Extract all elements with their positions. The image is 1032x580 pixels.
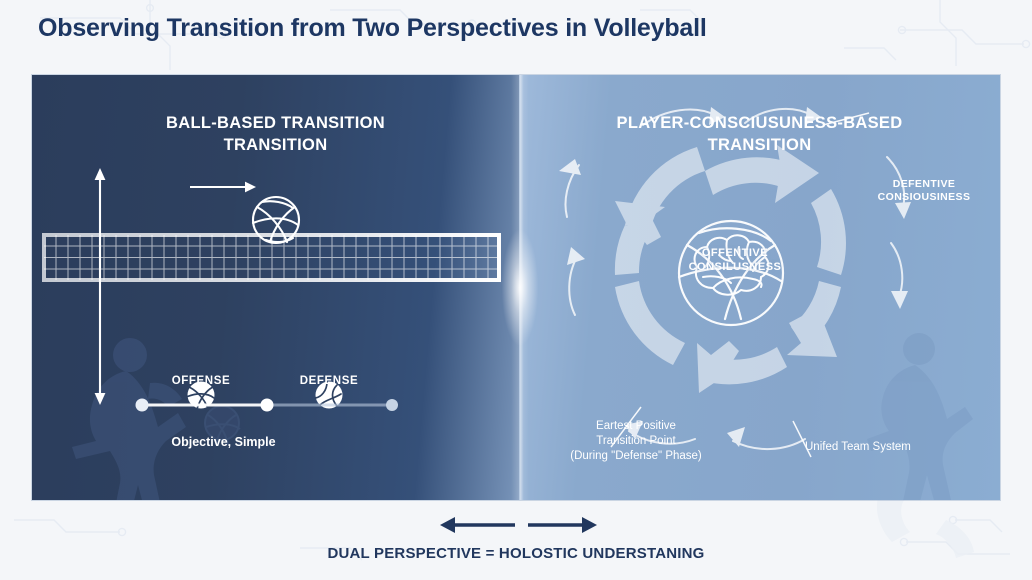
flight-arrow-icon bbox=[190, 182, 256, 193]
player-silhouette-right bbox=[849, 321, 999, 500]
offense-label: OFFENSE bbox=[171, 375, 231, 387]
defense-label: DEFENSE bbox=[299, 375, 359, 387]
annotation-defensive-line1: DEFENTIVE bbox=[859, 178, 989, 191]
annotation-unified-team-system: Unifed Team System bbox=[805, 440, 985, 455]
leader-lines-icon bbox=[611, 113, 869, 457]
comparison-board: BALL-BASED TRANSITION TRANSITION bbox=[32, 75, 1000, 500]
net-height-arrow-icon bbox=[95, 168, 106, 405]
player-silhouette-left bbox=[46, 325, 206, 500]
right-panel-consciousness-based: PLAYER-CONSCIUSUNESS-BASED TRANSITION bbox=[519, 75, 1000, 500]
annotation-defensive-consciousness: DEFENTIVE CONSIOUSINESS bbox=[859, 178, 989, 204]
footer-caption: DUAL PERSPECTIVE = HOLOSTIC UNDERSTANING bbox=[0, 545, 1032, 562]
right-heading-line1: PLAYER-CONSCIUSUNESS-BASED bbox=[519, 112, 1000, 134]
cycle-label-line1: OFFENTIVE bbox=[665, 247, 805, 261]
page-title: Observing Transition from Two Perspectiv… bbox=[38, 14, 707, 43]
annotation-defensive-line2: CONSIOUSINESS bbox=[859, 191, 989, 204]
left-panel-heading: BALL-BASED TRANSITION TRANSITION bbox=[32, 112, 519, 157]
timeline-caption: Objective, Simple bbox=[32, 435, 467, 449]
left-heading-line2: TRANSITION bbox=[32, 134, 519, 156]
transition-timeline-icon bbox=[136, 399, 399, 412]
annotation-earliest-line2: Transition Point bbox=[541, 434, 731, 449]
annotation-earliest-line1: Eartest Positive bbox=[541, 419, 731, 434]
right-heading-line2: TRANSITION bbox=[519, 134, 1000, 156]
annotation-earliest-line3: (During "Defense" Phase) bbox=[541, 449, 731, 464]
left-panel-ball-based: BALL-BASED TRANSITION TRANSITION bbox=[32, 75, 519, 500]
cycle-label-line2: CONSILUSNESS bbox=[665, 261, 805, 275]
net-icon bbox=[44, 235, 499, 280]
left-heading-line1: BALL-BASED TRANSITION bbox=[32, 112, 519, 134]
annotation-earliest-positive-transition: Eartest Positive Transition Point (Durin… bbox=[541, 419, 731, 464]
accent-arrows-icon bbox=[559, 107, 911, 449]
cycle-label-offensive: OFFENTIVE CONSILUSNESS bbox=[665, 247, 805, 275]
dual-perspective-arrows bbox=[0, 505, 1032, 541]
annotation-unified-line1: Unifed Team System bbox=[805, 440, 985, 455]
volleyball-icon bbox=[253, 197, 299, 243]
right-panel-heading: PLAYER-CONSCIUSUNESS-BASED TRANSITION bbox=[519, 112, 1000, 157]
